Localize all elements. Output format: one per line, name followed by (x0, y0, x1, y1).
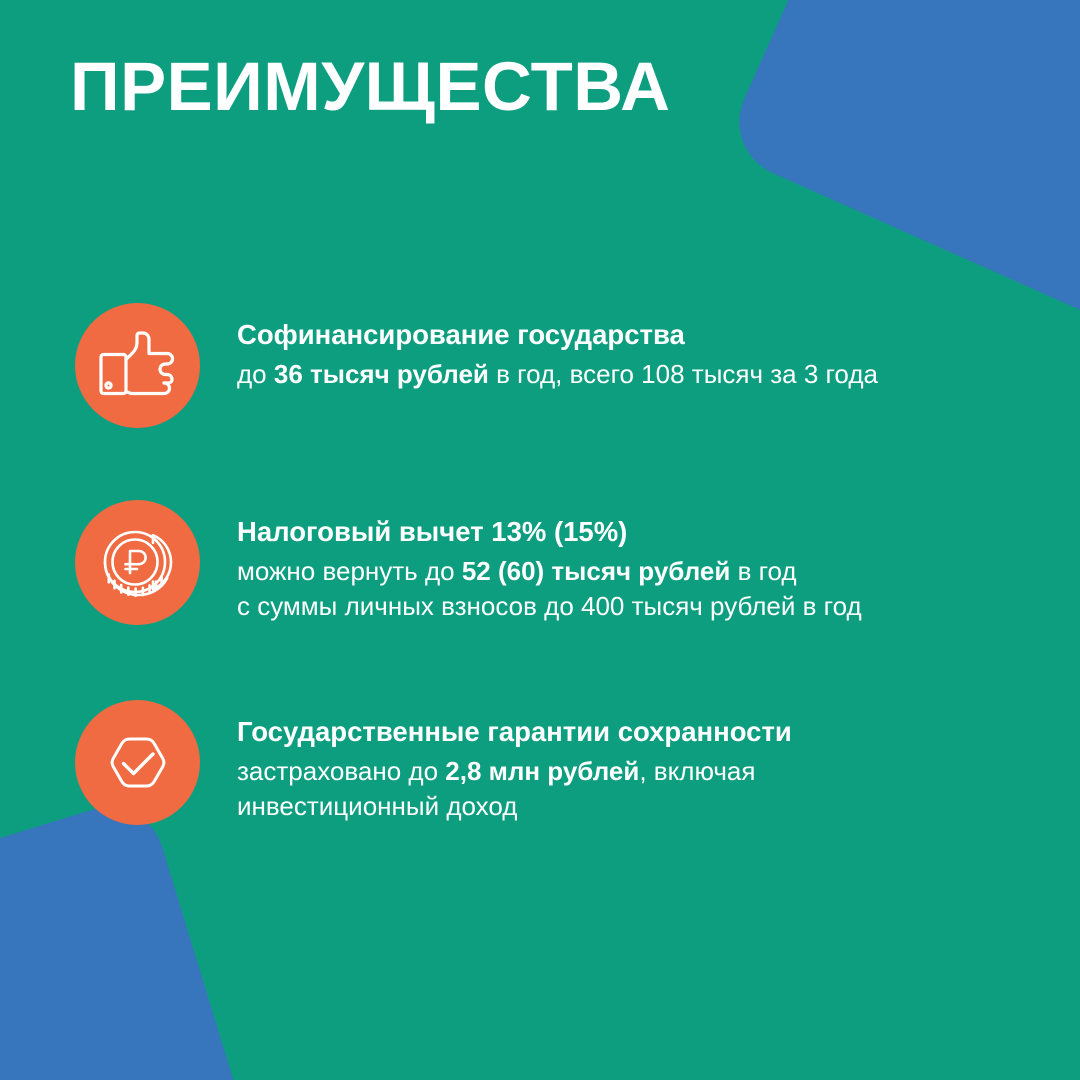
benefit-icon-badge (75, 700, 200, 825)
benefit-text-block: Государственные гарантии сохранности зас… (237, 700, 792, 825)
benefit-item-cofinancing: Софинансирование государства до 36 тысяч… (75, 303, 1035, 428)
decorative-blue-shape-top-right (721, 0, 1080, 341)
decorative-blue-shape-bottom-left (0, 793, 271, 1080)
benefit-description: до 36 тысяч рублей в год, всего 108 тыся… (237, 357, 878, 393)
benefit-heading: Софинансирование государства (237, 317, 878, 353)
benefit-description-line: до 36 тысяч рублей в год, всего 108 тыся… (237, 357, 878, 393)
benefit-description: можно вернуть до 52 (60) тысяч рублей в … (237, 554, 862, 625)
benefit-icon-badge (75, 303, 200, 428)
benefit-item-tax-deduction: Налоговый вычет 13% (15%) можно вернуть … (75, 500, 1035, 625)
benefit-description-line: можно вернуть до 52 (60) тысяч рублей в … (237, 554, 862, 590)
benefit-description: застраховано до 2,8 млн рублей, включаяи… (237, 754, 792, 825)
benefit-description-line: инвестиционный доход (237, 789, 792, 825)
benefit-description-line: с суммы личных взносов до 400 тысяч рубл… (237, 589, 862, 625)
benefit-heading: Налоговый вычет 13% (15%) (237, 514, 862, 550)
thumbs-up-icon (99, 331, 177, 401)
benefit-description-line: застраховано до 2,8 млн рублей, включая (237, 754, 792, 790)
benefit-heading: Государственные гарантии сохранности (237, 714, 792, 750)
benefit-text-block: Налоговый вычет 13% (15%) можно вернуть … (237, 500, 862, 625)
page-title: ПРЕИМУЩЕСТВА (70, 52, 670, 121)
hexagon-check-icon (100, 725, 176, 801)
benefit-text-block: Софинансирование государства до 36 тысяч… (237, 303, 878, 392)
benefit-item-state-guarantee: Государственные гарантии сохранности зас… (75, 700, 1035, 825)
benefit-icon-badge (75, 500, 200, 625)
ruble-coin-icon (101, 526, 175, 600)
